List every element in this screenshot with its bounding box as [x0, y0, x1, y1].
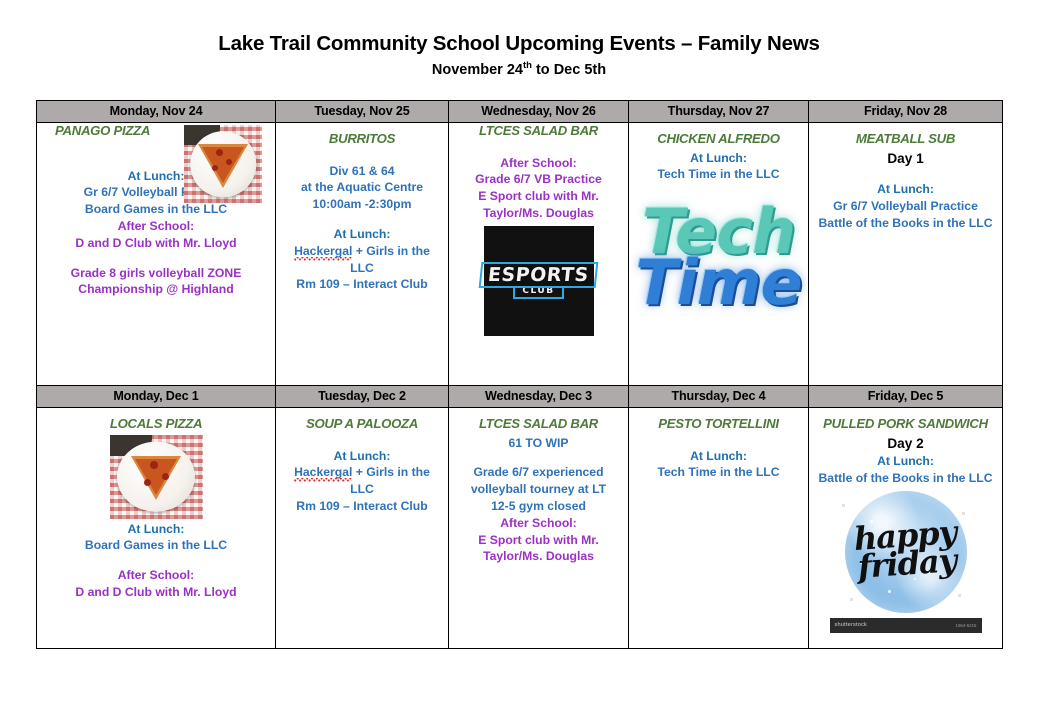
tech-time-line-1: Tech — [628, 205, 810, 260]
watermark-brand: shutterstock — [835, 622, 868, 628]
lunch-heading: At Lunch: — [629, 448, 808, 465]
info-line: 10:00am -2:30pm — [276, 196, 448, 213]
day-header-mon-dec-1: Monday, Dec 1 — [37, 386, 276, 408]
spacer — [809, 168, 1002, 181]
cell-fri-nov-28: MEATBALL SUB Day 1 At Lunch: Gr 6/7 Voll… — [809, 123, 1003, 386]
lunch-line: Rm 109 – Interact Club — [276, 498, 448, 515]
lunch-heading: At Lunch: — [276, 448, 448, 465]
after-school-line: E Sport club with Mr. — [449, 188, 628, 205]
day-header-fri-dec-5: Friday, Dec 5 — [809, 386, 1003, 408]
lunch-line-rest: + Girls in the — [352, 465, 430, 479]
day-header-fri-nov-28: Friday, Nov 28 — [809, 101, 1003, 123]
week2-header-row: Monday, Dec 1 Tuesday, Dec 2 Wednesday, … — [37, 386, 1003, 408]
week1-header-row: Monday, Nov 24 Tuesday, Nov 25 Wednesday… — [37, 101, 1003, 123]
info-line: 12-5 gym closed — [449, 498, 628, 515]
after-school-line: Grade 6/7 VB Practice — [449, 171, 628, 188]
day-label: Day 2 — [809, 435, 1002, 453]
menu-title: MEATBALL SUB — [809, 131, 1002, 148]
spacer — [629, 123, 808, 131]
spacer — [276, 435, 448, 448]
info-line: at the Aquatic Centre — [276, 179, 448, 196]
lunch-heading: At Lunch: — [809, 181, 1002, 198]
date-range-subtitle: November 24th to Dec 5th — [0, 63, 1038, 79]
menu-title: PESTO TORTELLINI — [629, 416, 808, 433]
day-header-tue-dec-2: Tuesday, Dec 2 — [276, 386, 449, 408]
pepperoni-dot — [150, 461, 158, 469]
spacer — [449, 408, 628, 416]
pepperoni-dot — [162, 473, 169, 480]
spacer — [276, 123, 448, 131]
extra-event-line: Grade 8 girls volleyball ZONE — [37, 265, 275, 282]
menu-title: LTCES SALAD BAR — [449, 416, 628, 433]
lunch-heading: At Lunch: — [629, 150, 808, 167]
extra-event-line: Championship @ Highland — [37, 281, 275, 298]
cell-fri-dec-5: PULLED PORK SANDWICH Day 2 At Lunch: Bat… — [809, 408, 1003, 649]
lunch-line: Board Games in the LLC — [37, 537, 275, 554]
cell-tue-dec-2: SOUP A PALOOZA At Lunch: Hackergal + Gir… — [276, 408, 449, 649]
info-line: Grade 6/7 experienced — [449, 464, 628, 481]
week1-content-row: PANAGO PIZZA At Lunch: Gr 6/7 Volleyball… — [37, 123, 1003, 386]
spacer — [449, 142, 628, 155]
menu-title: PULLED PORK SANDWICH — [809, 416, 1002, 433]
cell-tue-nov-25: BURRITOS Div 61 & 64 at the Aquatic Cent… — [276, 123, 449, 386]
title-block: Lake Trail Community School Upcoming Eve… — [0, 0, 1038, 78]
spacer — [37, 252, 275, 265]
lunch-line: Hackergal + Girls in the — [276, 243, 448, 260]
menu-title: BURRITOS — [276, 131, 448, 148]
day-label: Day 1 — [809, 150, 1002, 168]
day-header-tue-nov-25: Tuesday, Nov 25 — [276, 101, 449, 123]
pepperoni-dot — [212, 165, 218, 171]
tech-time-line-2: Time — [628, 256, 810, 311]
cell-mon-nov-24: PANAGO PIZZA At Lunch: Gr 6/7 Volleyball… — [37, 123, 276, 386]
after-school-heading: After School: — [37, 218, 275, 235]
newsletter-page: Lake Trail Community School Upcoming Eve… — [0, 0, 1038, 703]
happy-friday-lettering: happy friday — [839, 518, 973, 582]
pattern-dot — [850, 598, 853, 601]
menu-title: CHICKEN ALFREDO — [629, 131, 808, 148]
spacer — [37, 408, 275, 416]
spacer — [809, 123, 1002, 131]
sparkle-dot — [888, 590, 891, 593]
after-school-line: Taylor/Ms. Douglas — [449, 205, 628, 222]
pizza-slice-image — [184, 125, 262, 203]
pattern-dot — [962, 512, 965, 515]
pepperoni-dot — [216, 149, 223, 156]
subtitle-prefix: November 24 — [432, 62, 523, 78]
lunch-heading: At Lunch: — [276, 226, 448, 243]
tech-time-graphic-image: Tech Time — [628, 205, 810, 310]
subtitle-ordinal: th — [523, 60, 532, 71]
events-calendar-table: Monday, Nov 24 Tuesday, Nov 25 Wednesday… — [36, 100, 1003, 649]
after-school-line: Taylor/Ms. Douglas — [449, 548, 628, 565]
lunch-line-rest: + Girls in the — [352, 244, 430, 258]
pattern-dot — [842, 504, 845, 507]
info-line: volleyball tourney at LT — [449, 481, 628, 498]
lunch-line: Hackergal + Girls in the — [276, 464, 448, 481]
pattern-dot — [958, 594, 961, 597]
after-school-heading: After School: — [37, 567, 275, 584]
watermark-id: 1964-6215 — [956, 623, 977, 628]
menu-title: SOUP A PALOOZA — [276, 416, 448, 433]
spacer — [449, 451, 628, 464]
lunch-line: Tech Time in the LLC — [629, 166, 808, 183]
lunch-line: Rm 109 – Interact Club — [276, 276, 448, 293]
menu-title: LTCES SALAD BAR — [449, 123, 628, 140]
day-header-wed-nov-26: Wednesday, Nov 26 — [449, 101, 629, 123]
day-header-thu-dec-4: Thursday, Dec 4 — [629, 386, 809, 408]
esports-club-logo-image: ESPORTS CLUB — [484, 226, 594, 336]
pizza-slice-image — [110, 435, 203, 519]
cell-wed-nov-26: LTCES SALAD BAR After School: Grade 6/7 … — [449, 123, 629, 386]
happy-friday-line-2: friday — [841, 545, 973, 582]
info-line: Div 61 & 64 — [276, 163, 448, 180]
after-school-heading: After School: — [449, 155, 628, 172]
misspelled-word: Hackergal — [294, 244, 352, 261]
pizza-slice-shape — [198, 144, 248, 188]
lunch-line: Board Games in the LLC — [37, 201, 275, 218]
cell-thu-nov-27: CHICKEN ALFREDO At Lunch: Tech Time in t… — [629, 123, 809, 386]
lunch-line: Tech Time in the LLC — [629, 464, 808, 481]
stock-watermark-bar: shutterstock 1964-6215 — [830, 618, 982, 633]
lunch-heading: At Lunch: — [37, 521, 275, 538]
day-header-wed-dec-3: Wednesday, Dec 3 — [449, 386, 629, 408]
page-title: Lake Trail Community School Upcoming Eve… — [0, 33, 1038, 56]
pepperoni-dot — [144, 479, 151, 486]
lunch-line: Gr 6/7 Volleyball Practice — [809, 198, 1002, 215]
lunch-line: Battle of the Books in the LLC — [809, 470, 1002, 487]
spacer — [629, 435, 808, 448]
esports-wordmark: ESPORTS — [479, 262, 598, 288]
after-school-line: D and D Club with Mr. Lloyd — [37, 584, 275, 601]
happy-friday-graphic-image: happy friday shutterstock 1964-6215 — [830, 490, 982, 633]
misspelled-word: Hackergal — [294, 465, 352, 482]
lunch-line-cont: LLC — [276, 481, 448, 498]
pepperoni-dot — [226, 159, 232, 165]
spacer — [276, 408, 448, 416]
spacer — [37, 554, 275, 567]
spacer — [276, 213, 448, 226]
lunch-heading: At Lunch: — [809, 453, 1002, 470]
spacer — [629, 408, 808, 416]
after-school-line: D and D Club with Mr. Lloyd — [37, 235, 275, 252]
after-school-heading: After School: — [449, 515, 628, 532]
day-header-thu-nov-27: Thursday, Nov 27 — [629, 101, 809, 123]
week2-content-row: LOCALS PIZZA At Lunch: Board Games in th… — [37, 408, 1003, 649]
spacer — [276, 150, 448, 163]
menu-title: LOCALS PIZZA — [37, 416, 275, 433]
spacer — [809, 408, 1002, 416]
esports-subtext: CLUB — [513, 286, 563, 299]
lunch-line-cont: LLC — [276, 260, 448, 277]
subtitle-suffix: to Dec 5th — [532, 62, 606, 78]
cell-wed-dec-3: LTCES SALAD BAR 61 TO WIP Grade 6/7 expe… — [449, 408, 629, 649]
after-school-line: E Sport club with Mr. — [449, 532, 628, 549]
day-header-mon-nov-24: Monday, Nov 24 — [37, 101, 276, 123]
menu-subheading: 61 TO WIP — [449, 435, 628, 452]
lunch-line: Battle of the Books in the LLC — [809, 215, 1002, 232]
cell-thu-dec-4: PESTO TORTELLINI At Lunch: Tech Time in … — [629, 408, 809, 649]
cell-mon-dec-1: LOCALS PIZZA At Lunch: Board Games in th… — [37, 408, 276, 649]
